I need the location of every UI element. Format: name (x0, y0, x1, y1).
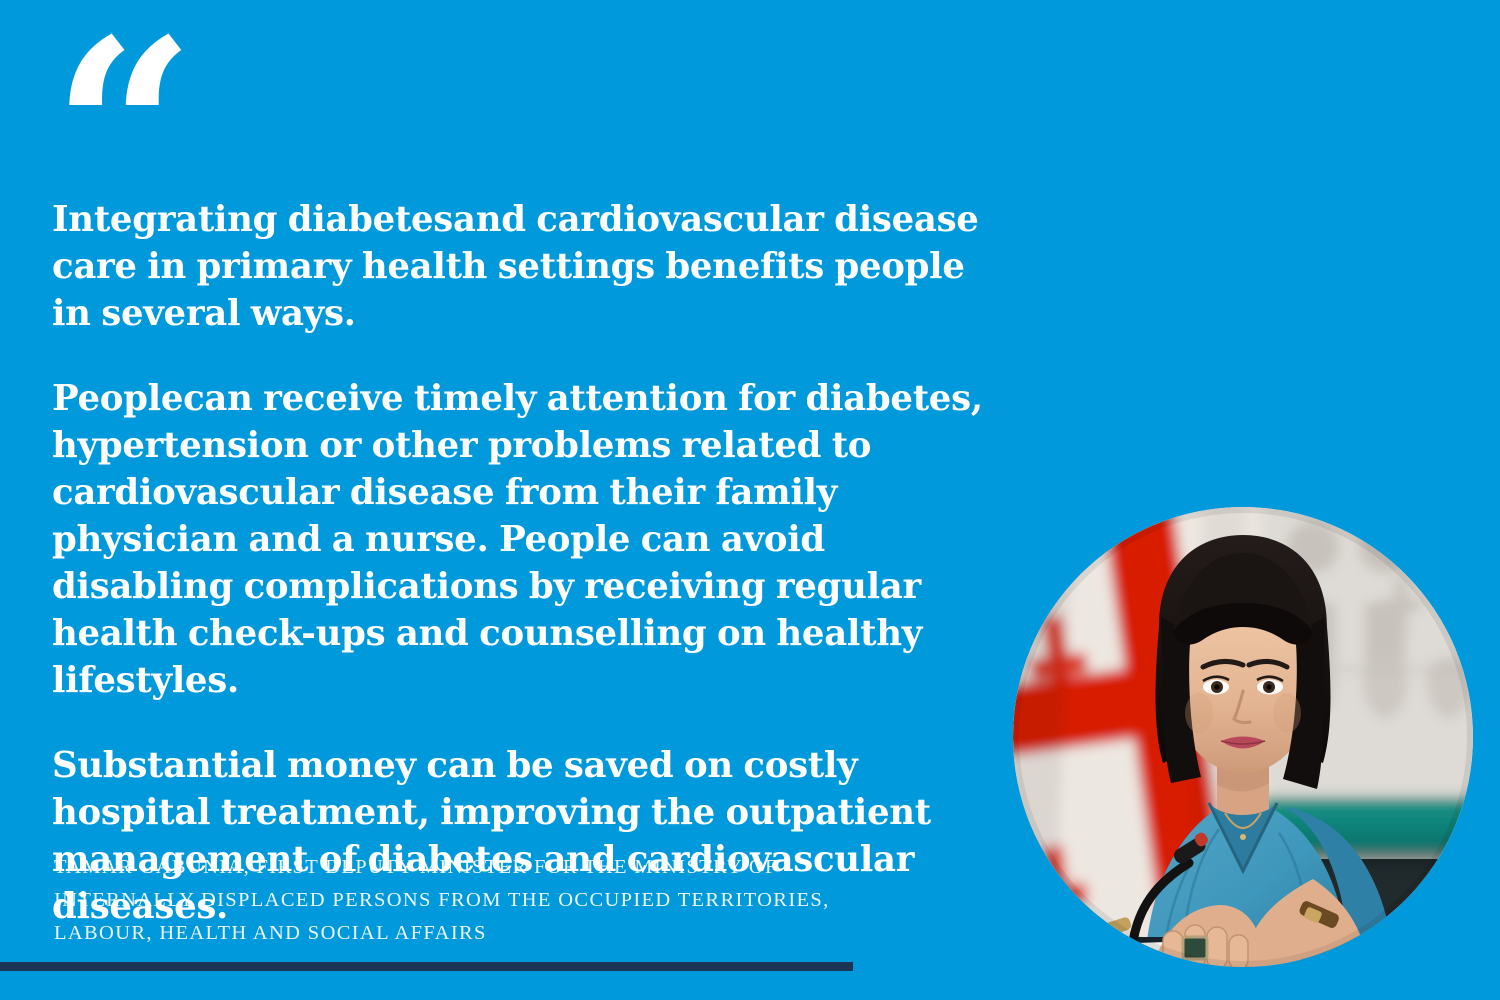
quote-paragraph-2: Peoplecan receive timely attention for d… (52, 375, 1012, 704)
quote-paragraph-1: Integrating diabetesand cardiovascular d… (52, 196, 1012, 337)
speaker-portrait-avatar (1013, 507, 1473, 967)
quote-card: “ Integrating diabetesand cardiovascular… (0, 0, 1500, 1000)
portrait-illustration (1013, 507, 1473, 967)
quote-text-block: Integrating diabetesand cardiovascular d… (52, 196, 1012, 930)
quote-attribution: Tamar Gabunia, First Deputy Minister for… (54, 851, 914, 950)
bottom-divider-rule (0, 962, 853, 971)
